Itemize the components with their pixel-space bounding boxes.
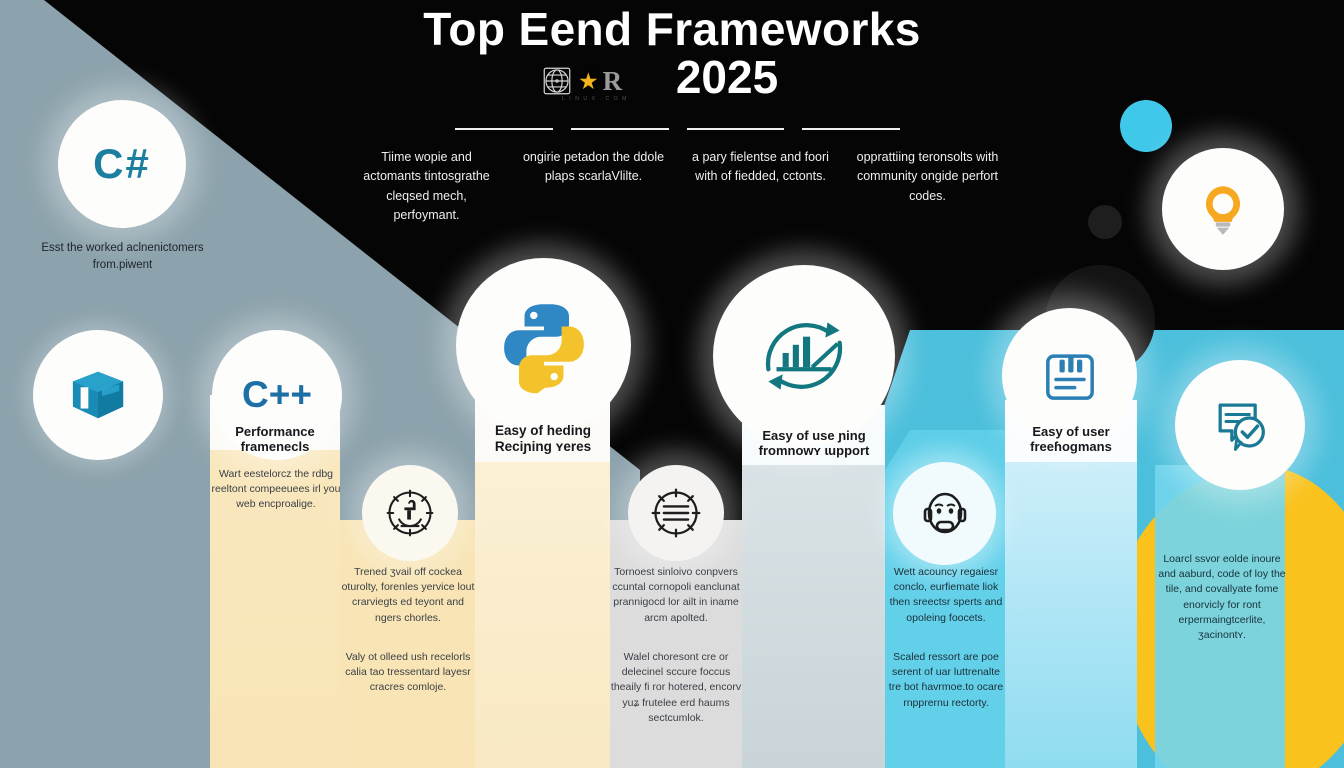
cpp-body: Wart eestelorcz the rdbg reeltont compee… — [208, 467, 344, 513]
lead-paragraph: ongirie petadon the ddole plaps scarlaVl… — [519, 148, 668, 226]
csharp-logo-icon: C# — [93, 140, 151, 188]
notepad-chart-icon — [1035, 341, 1105, 411]
wireframe-globe-icon — [540, 64, 574, 98]
analytics-heading: Easy of use ɲing fromnowʏ ɩupport — [735, 428, 893, 459]
csharp-caption: Esst the worked aclnenictomers from.piwe… — [40, 240, 205, 273]
sliders-body-1: Tornoest sinloivo conpvers ccuntal corno… — [608, 565, 744, 626]
lead-paragraph: Tiime wopie and actomants tintosgrathe c… — [352, 148, 501, 226]
divider — [455, 128, 553, 130]
cube-badge[interactable] — [33, 330, 163, 460]
divider — [687, 128, 785, 130]
cube-database-icon — [69, 366, 127, 424]
headset-face-icon — [915, 484, 975, 544]
lead-paragraph: a pary fielentse and foori with of fiedd… — [686, 148, 835, 226]
csharp-badge[interactable]: C# — [58, 100, 186, 228]
notepad-heading: Easy of user freeɦogmans — [1003, 424, 1139, 455]
review-badge[interactable] — [1175, 360, 1305, 490]
python-logo-icon — [493, 295, 595, 397]
support-body-1: Wett acouncy regaiesr conclo, eurfiemate… — [885, 565, 1007, 626]
header-divider-row — [455, 128, 900, 130]
circular-sliders-icon — [648, 485, 704, 541]
python-heading: Easy of heding Reciɲing ʏeres — [472, 423, 614, 455]
notepad-badge[interactable] — [1002, 308, 1137, 443]
column-panel-python — [475, 400, 610, 768]
support-body-2: Scaled ressort are poe serent of uar lut… — [885, 650, 1007, 711]
header: Top Eend Frameworks 2025 — [0, 6, 1344, 101]
letter-r-logo: R — [603, 68, 623, 95]
divider — [802, 128, 900, 130]
star-icon: ★ — [578, 70, 599, 93]
document-chat-check-icon — [1205, 390, 1275, 460]
cyan-dot — [1120, 100, 1172, 152]
dark-dot — [1088, 205, 1122, 239]
meter-badge[interactable] — [362, 465, 458, 561]
python-badge[interactable] — [456, 258, 631, 433]
review-body: Loarcl ssvor eolde inoure and aaburd, co… — [1158, 552, 1286, 643]
logo-row: ★ R — [540, 64, 622, 98]
logo-caption: L I N U X . C O M — [545, 96, 645, 102]
infographic-canvas: Top Eend Frameworks 2025 ★ R L I N U X .… — [0, 0, 1344, 768]
column-panel-notepad — [1005, 400, 1137, 768]
support-badge[interactable] — [893, 462, 996, 565]
sliders-body-2: Walel choresont cre or delecinel sccure … — [608, 650, 744, 726]
cpp-logo-icon: C++ — [242, 374, 312, 416]
lead-paragraph: opprattiing teronsolts with community on… — [853, 148, 1002, 226]
cpp-heading: Performance framenecls — [205, 424, 345, 455]
gauge-lock-icon — [382, 485, 438, 541]
meter-body-2: Valy ot olleed ush recelorls calia tao t… — [340, 650, 476, 696]
page-title-line2: 2025 — [110, 53, 1344, 101]
column-panel-analytics — [742, 405, 885, 768]
meter-body-1: Trened ʒvail off cockea oturolty, forenl… — [340, 565, 476, 626]
page-title-line1: Top Eend Frameworks — [0, 6, 1344, 53]
lead-paragraph-row: Tiime wopie and actomants tintosgrathe c… — [352, 148, 1002, 226]
sliders-badge[interactable] — [628, 465, 724, 561]
lightbulb-icon — [1192, 178, 1254, 240]
idea-badge[interactable] — [1162, 148, 1284, 270]
divider — [571, 128, 669, 130]
analytics-badge[interactable] — [713, 265, 895, 447]
cycle-bar-chart-icon — [748, 300, 860, 412]
